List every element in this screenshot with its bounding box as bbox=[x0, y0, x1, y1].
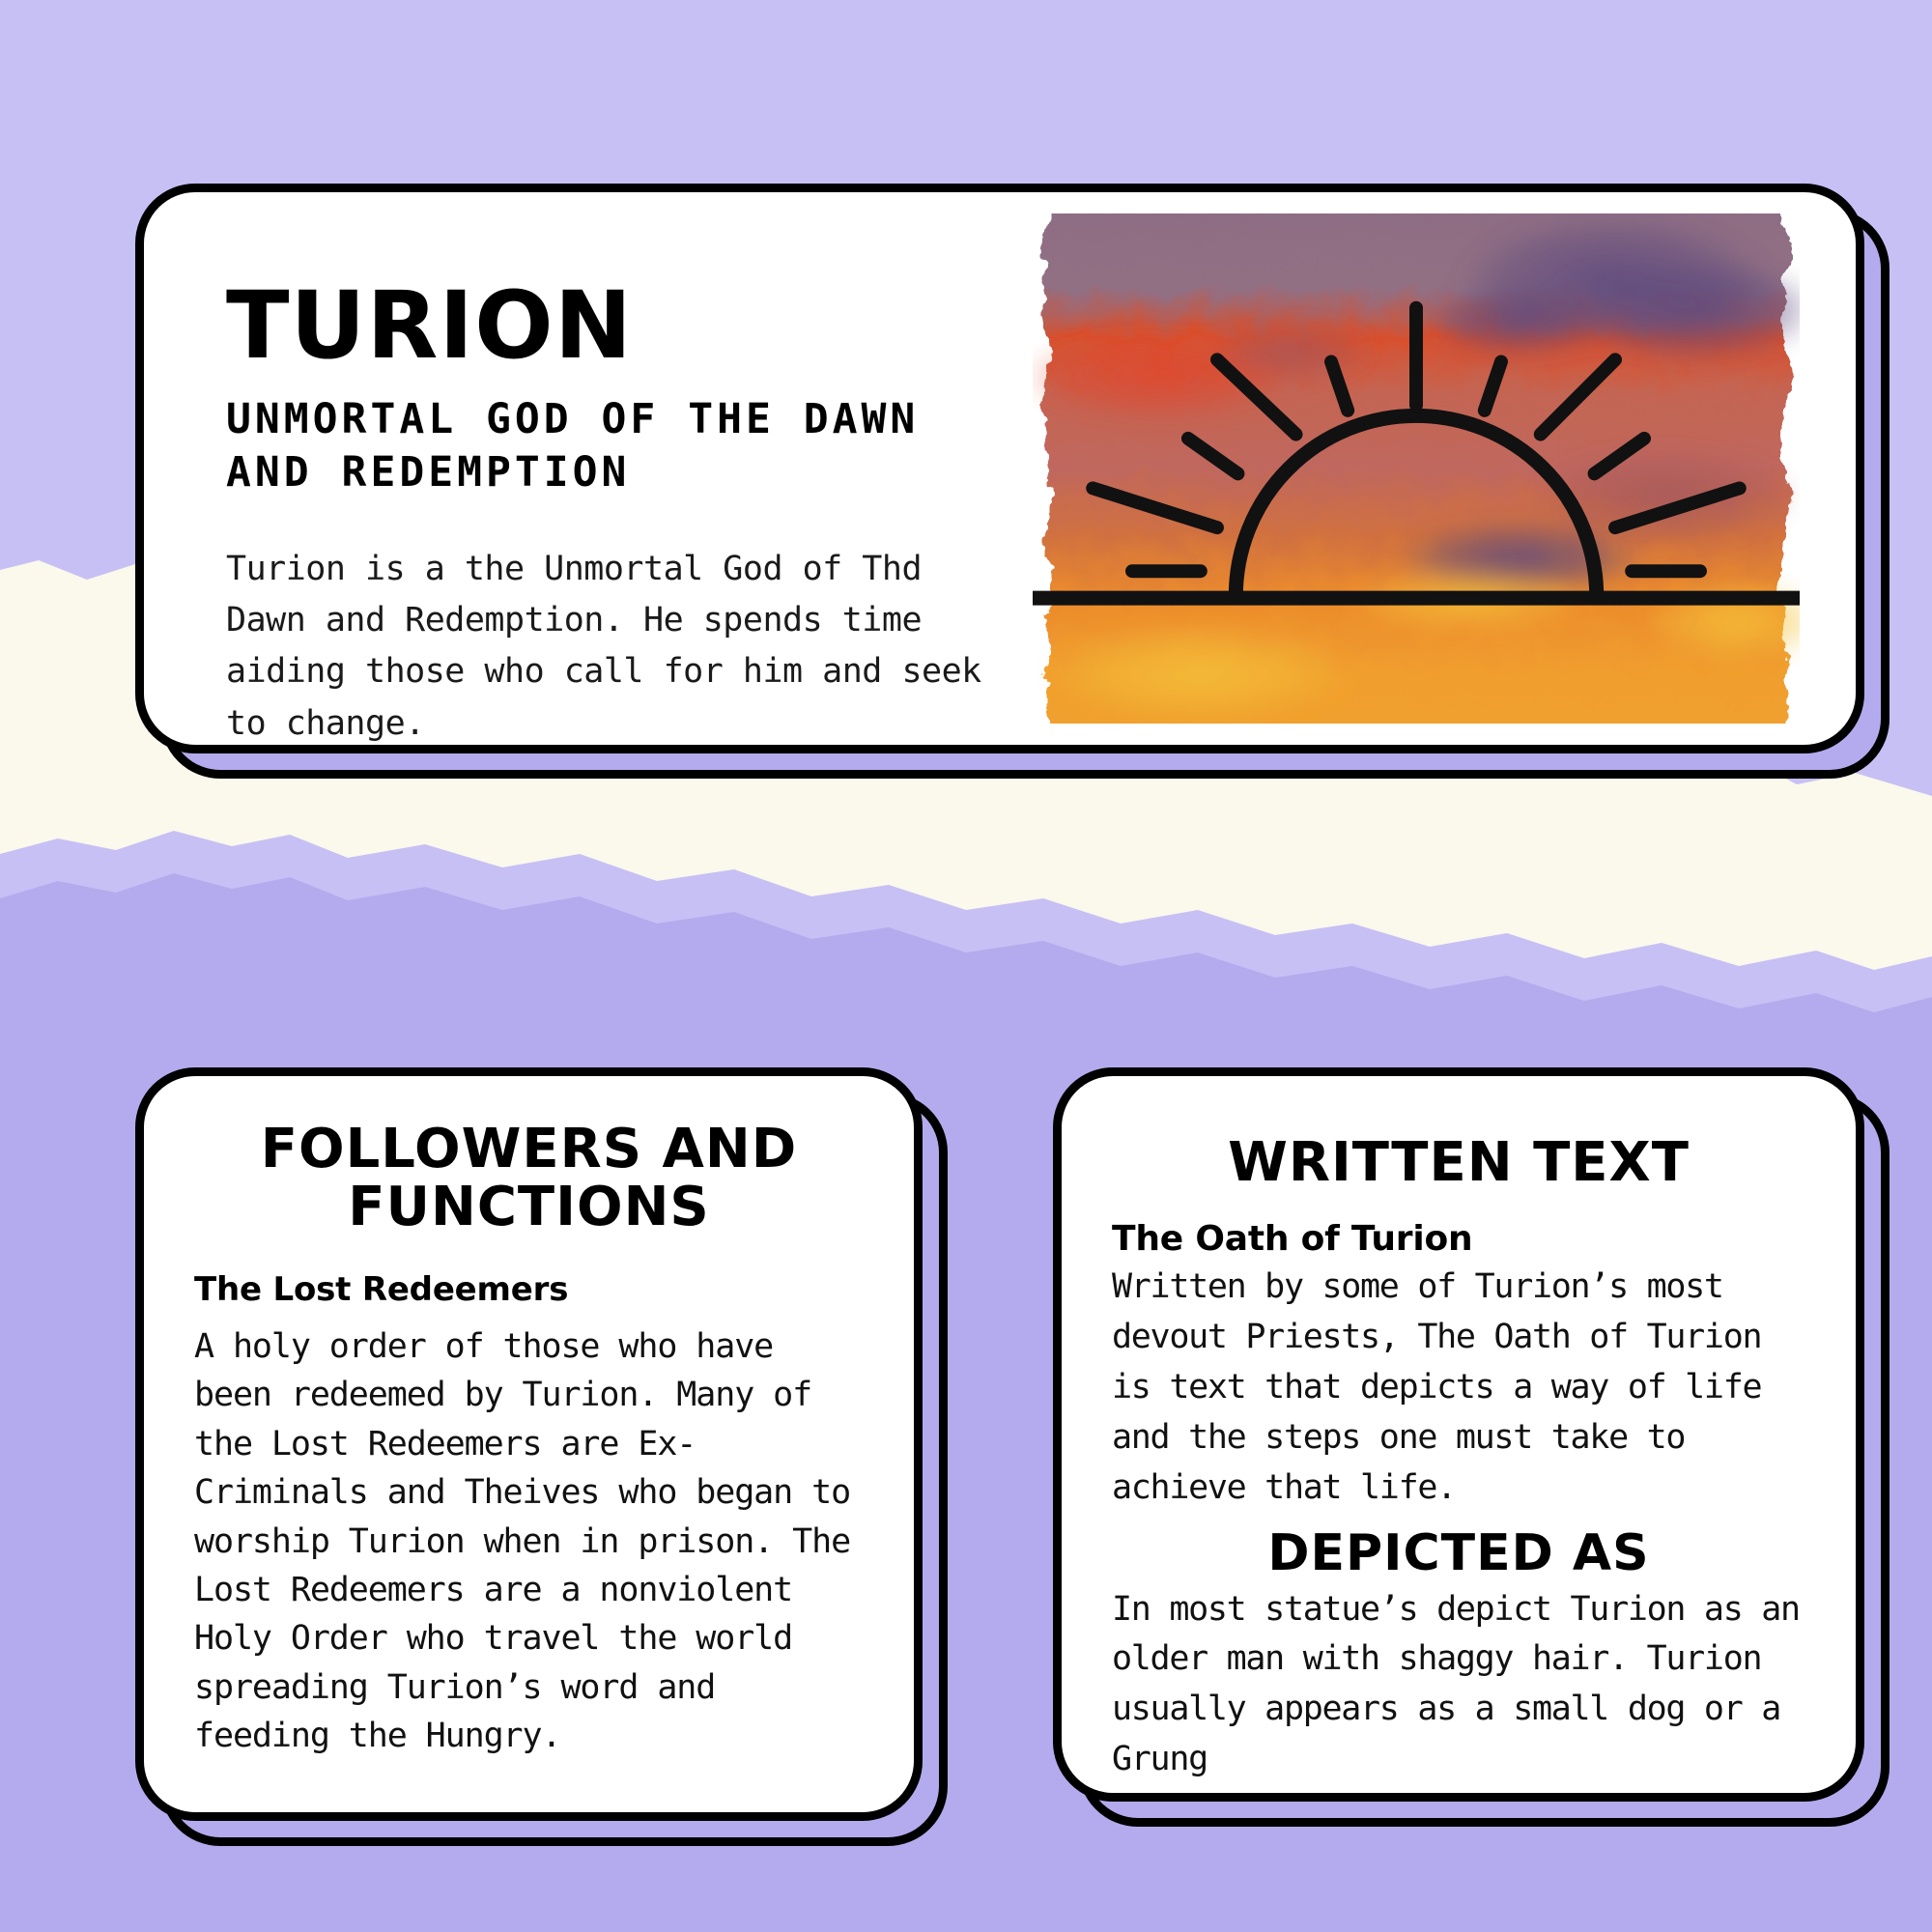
depicted-as-section-title: DEPICTED AS bbox=[1112, 1526, 1805, 1580]
hero-text-block: TURION UNMORTAL GOD OF THE DAWN AND REDE… bbox=[144, 192, 1033, 745]
hero-card-container: TURION UNMORTAL GOD OF THE DAWN AND REDE… bbox=[135, 184, 1864, 753]
followers-card-container: FOLLOWERS AND FUNCTIONS The Lost Redeeme… bbox=[135, 1067, 923, 1821]
sunrise-artwork bbox=[1033, 213, 1800, 724]
written-text-card: WRITTEN TEXT The Oath of Turion Written … bbox=[1053, 1067, 1864, 1802]
poster-canvas: TURION UNMORTAL GOD OF THE DAWN AND REDE… bbox=[0, 0, 1932, 1932]
followers-card: FOLLOWERS AND FUNCTIONS The Lost Redeeme… bbox=[135, 1067, 923, 1821]
hero-card: TURION UNMORTAL GOD OF THE DAWN AND REDE… bbox=[135, 184, 1864, 753]
written-text-card-content: WRITTEN TEXT The Oath of Turion Written … bbox=[1062, 1076, 1856, 1793]
followers-card-content: FOLLOWERS AND FUNCTIONS The Lost Redeeme… bbox=[144, 1076, 914, 1812]
oath-of-turion-heading: The Oath of Turion bbox=[1112, 1219, 1805, 1259]
page-subtitle: UNMORTAL GOD OF THE DAWN AND REDEMPTION bbox=[226, 393, 960, 499]
lost-redeemers-heading: The Lost Redeemers bbox=[194, 1270, 864, 1309]
sunrise-icon bbox=[1033, 213, 1800, 724]
followers-section-title: FOLLOWERS AND FUNCTIONS bbox=[194, 1121, 864, 1237]
written-text-card-container: WRITTEN TEXT The Oath of Turion Written … bbox=[1053, 1067, 1864, 1802]
lost-redeemers-body: A holy order of those who have been rede… bbox=[194, 1322, 864, 1761]
written-text-section-title: WRITTEN TEXT bbox=[1112, 1134, 1805, 1192]
depicted-as-body: In most statue’s depict Turion as an old… bbox=[1112, 1585, 1805, 1785]
oath-of-turion-body: Written by some of Turion’s most devout … bbox=[1112, 1263, 1805, 1513]
page-title: TURION bbox=[226, 279, 1033, 372]
hero-description: Turion is a the Unmortal God of Thd Dawn… bbox=[226, 544, 989, 750]
